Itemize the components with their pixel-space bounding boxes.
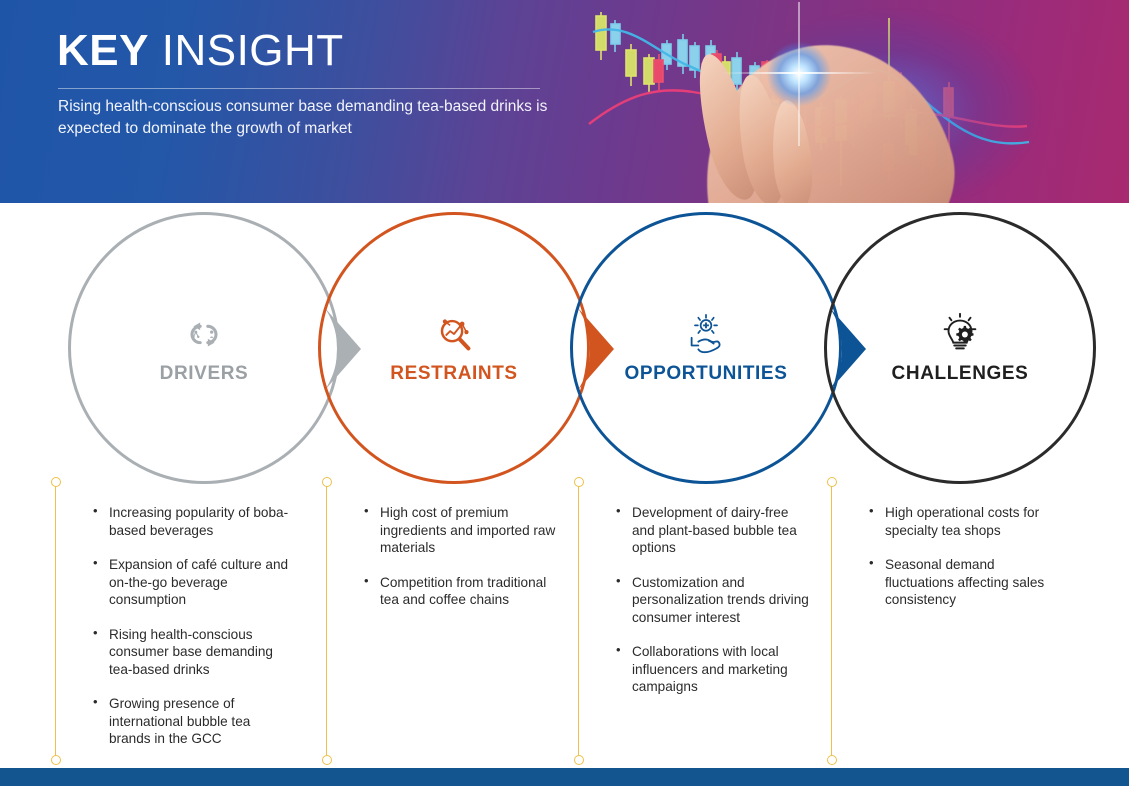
bullet-list-restraints: High cost of premium ingredients and imp… xyxy=(362,504,558,626)
page-title-bold: KEY xyxy=(57,26,149,75)
node-content: CHALLENGES xyxy=(827,215,1093,481)
list-item: Growing presence of international bubble… xyxy=(91,695,291,748)
hand-sun-idea-icon xyxy=(683,311,729,357)
column-rail xyxy=(55,482,56,760)
node-label-challenges: CHALLENGES xyxy=(892,363,1029,385)
column-rail xyxy=(831,482,832,760)
node-drivers[interactable]: DRIVERS xyxy=(68,212,340,484)
touch-spark-icon xyxy=(767,42,831,106)
node-restraints[interactable]: RESTRAINTS xyxy=(318,212,590,484)
lightbulb-gear-icon xyxy=(937,311,983,357)
column-challenges: High operational costs for specialty tea… xyxy=(831,478,1081,763)
column-opportunities: Development of dairy-free and plant-base… xyxy=(578,478,828,763)
list-item: Increasing popularity of boba-based beve… xyxy=(91,504,291,539)
node-label-opportunities: OPPORTUNITIES xyxy=(625,363,788,385)
rail-dot-top xyxy=(574,477,584,487)
node-label-restraints: RESTRAINTS xyxy=(390,363,517,385)
list-item: Development of dairy-free and plant-base… xyxy=(614,504,810,557)
key-insight-infographic: KEY INSIGHT Rising health-conscious cons… xyxy=(0,0,1129,786)
list-item: Customization and personalization trends… xyxy=(614,574,810,627)
page-title: KEY INSIGHT xyxy=(57,26,344,77)
title-divider xyxy=(58,88,540,89)
node-challenges[interactable]: CHALLENGES xyxy=(824,212,1096,484)
list-item: High operational costs for specialty tea… xyxy=(867,504,1057,539)
column-drivers: Increasing popularity of boba-based beve… xyxy=(55,478,305,763)
rail-dot-top xyxy=(51,477,61,487)
node-content: DRIVERS xyxy=(71,215,337,481)
header-banner: KEY INSIGHT Rising health-conscious cons… xyxy=(0,0,1129,203)
rail-dot-bottom xyxy=(322,755,332,765)
list-item: Collaborations with local influencers an… xyxy=(614,643,810,696)
magnifier-chart-icon xyxy=(431,311,477,357)
column-restraints: High cost of premium ingredients and imp… xyxy=(326,478,576,763)
footer-bar xyxy=(0,768,1129,786)
page-subtitle: Rising health-conscious consumer base de… xyxy=(58,96,578,141)
bullet-list-opportunities: Development of dairy-free and plant-base… xyxy=(614,504,810,713)
bullet-columns: Increasing popularity of boba-based beve… xyxy=(0,478,1129,763)
cycle-arrows-icon xyxy=(181,311,227,357)
header-decorative-image xyxy=(559,0,1129,203)
column-rail xyxy=(326,482,327,760)
bullet-list-challenges: High operational costs for specialty tea… xyxy=(867,504,1057,626)
rail-dot-top xyxy=(322,477,332,487)
rail-dot-bottom xyxy=(827,755,837,765)
column-rail xyxy=(578,482,579,760)
node-opportunities[interactable]: OPPORTUNITIES xyxy=(570,212,842,484)
list-item: Rising health-conscious consumer base de… xyxy=(91,626,291,679)
node-label-drivers: DRIVERS xyxy=(160,363,249,385)
rail-dot-top xyxy=(827,477,837,487)
page-title-light-word: INSIGHT xyxy=(162,26,344,75)
bullet-list-drivers: Increasing popularity of boba-based beve… xyxy=(91,504,291,765)
list-item: Expansion of café culture and on-the-go … xyxy=(91,556,291,609)
list-item: Competition from traditional tea and cof… xyxy=(362,574,558,609)
node-content: OPPORTUNITIES xyxy=(573,215,839,481)
rail-dot-bottom xyxy=(574,755,584,765)
node-content: RESTRAINTS xyxy=(321,215,587,481)
page-title-light xyxy=(149,26,162,75)
rail-dot-bottom xyxy=(51,755,61,765)
list-item: High cost of premium ingredients and imp… xyxy=(362,504,558,557)
list-item: Seasonal demand fluctuations affecting s… xyxy=(867,556,1057,609)
